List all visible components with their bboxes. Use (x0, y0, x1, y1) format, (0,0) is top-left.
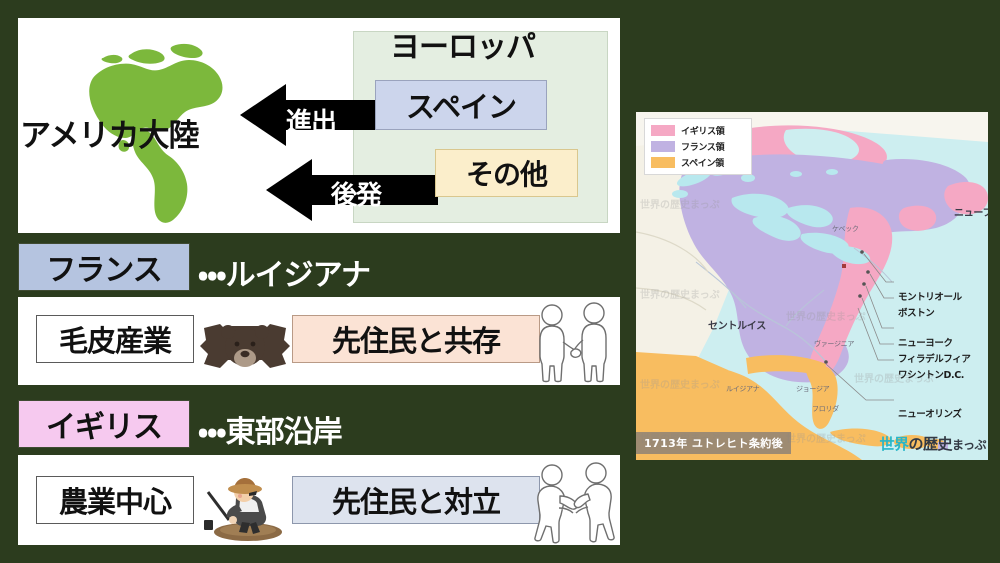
conflict-with-natives-chip: 先住民と対立 (292, 476, 540, 524)
legend-swatch-spain (651, 157, 675, 168)
france-country-chip: フランス (18, 243, 190, 291)
legend-label-britain: イギリス領 (681, 124, 725, 137)
legend-item-britain: イギリス領 (651, 124, 745, 137)
map-city-boston: ボストン (898, 305, 934, 319)
map-city-montreal: モントリオール (898, 289, 962, 303)
legend-label-france: フランス領 (681, 140, 724, 153)
map-city-philadelphia: フィラデルフィア (898, 351, 970, 365)
north-america-1713-map: イギリス領 フランス領 スペイン領 世界の歴史まっぷ 世界の歴史まっぷ 世界の歴… (636, 112, 988, 460)
legend-swatch-britain (651, 125, 675, 136)
map-caption: 1713年 ユトレヒト条約後 (636, 432, 791, 454)
agriculture-center-chip: 農業中心 (36, 476, 194, 524)
map-place-louisiana: ルイジアナ (726, 384, 759, 394)
handshake-figures-icon (530, 302, 618, 384)
ghost-watermark: 世界の歴史まっぷ (786, 430, 866, 445)
map-city-washington: ワシントンD.C. (898, 367, 964, 381)
map-place-newfoundland: ニューファ (954, 204, 988, 219)
coexist-with-natives-chip: 先住民と共存 (292, 315, 540, 363)
fur-industry-chip: 毛皮産業 (36, 315, 194, 363)
legend-swatch-france (651, 141, 675, 152)
europe-title: ヨーロッパ (335, 22, 590, 66)
slide-root: 進出 後発 アメリカ大陸 ヨーロッパ スペイン その他 フランス ・・・ルイジア… (0, 0, 1000, 563)
map-city-newyork: ニューヨーク (898, 335, 953, 349)
uk-country-chip: イギリス (18, 400, 190, 448)
map-legend: イギリス領 フランス領 スペイン領 (644, 118, 752, 175)
watermark-part2: の歴史 (908, 435, 952, 453)
ghost-watermark: 世界の歴史まっぷ (640, 376, 720, 391)
ghost-watermark: 世界の歴史まっぷ (640, 286, 720, 301)
farmer-icon (196, 470, 291, 542)
uk-region-label: ・・・東部沿岸 (198, 407, 342, 451)
map-watermark: 世界の歴史まっぷ (879, 433, 986, 454)
bear-pelt-icon (196, 316, 294, 378)
legend-item-france: フランス領 (651, 140, 745, 153)
map-place-georgia: ジョージア (796, 384, 829, 394)
map-place-virginia: ヴァージニア (814, 339, 854, 349)
legend-label-spain: スペイン領 (681, 156, 724, 169)
arrow-latecomer-label: 後発 (331, 175, 381, 212)
watermark-part3: まっぷ (952, 438, 986, 452)
americas-label: アメリカ大陸 (20, 110, 198, 155)
watermark-part1: 世界 (879, 435, 908, 453)
other-countries-chip: その他 (435, 149, 578, 197)
map-place-quebec: ケベック (832, 224, 859, 234)
ghost-watermark: 世界の歴史まっぷ (786, 308, 866, 323)
fighting-figures-icon (530, 460, 622, 544)
map-place-florida: フロリダ (812, 404, 839, 414)
france-region-label: ・・・ルイジアナ (198, 250, 370, 294)
ghost-watermark: 世界の歴史まっぷ (640, 196, 720, 211)
legend-item-spain: スペイン領 (651, 156, 745, 169)
spain-chip: スペイン (375, 80, 547, 130)
map-place-stlouis: セントルイス (708, 317, 766, 332)
arrow-advance-label: 進出 (286, 102, 336, 139)
map-city-neworleans: ニューオリンズ (898, 406, 962, 420)
